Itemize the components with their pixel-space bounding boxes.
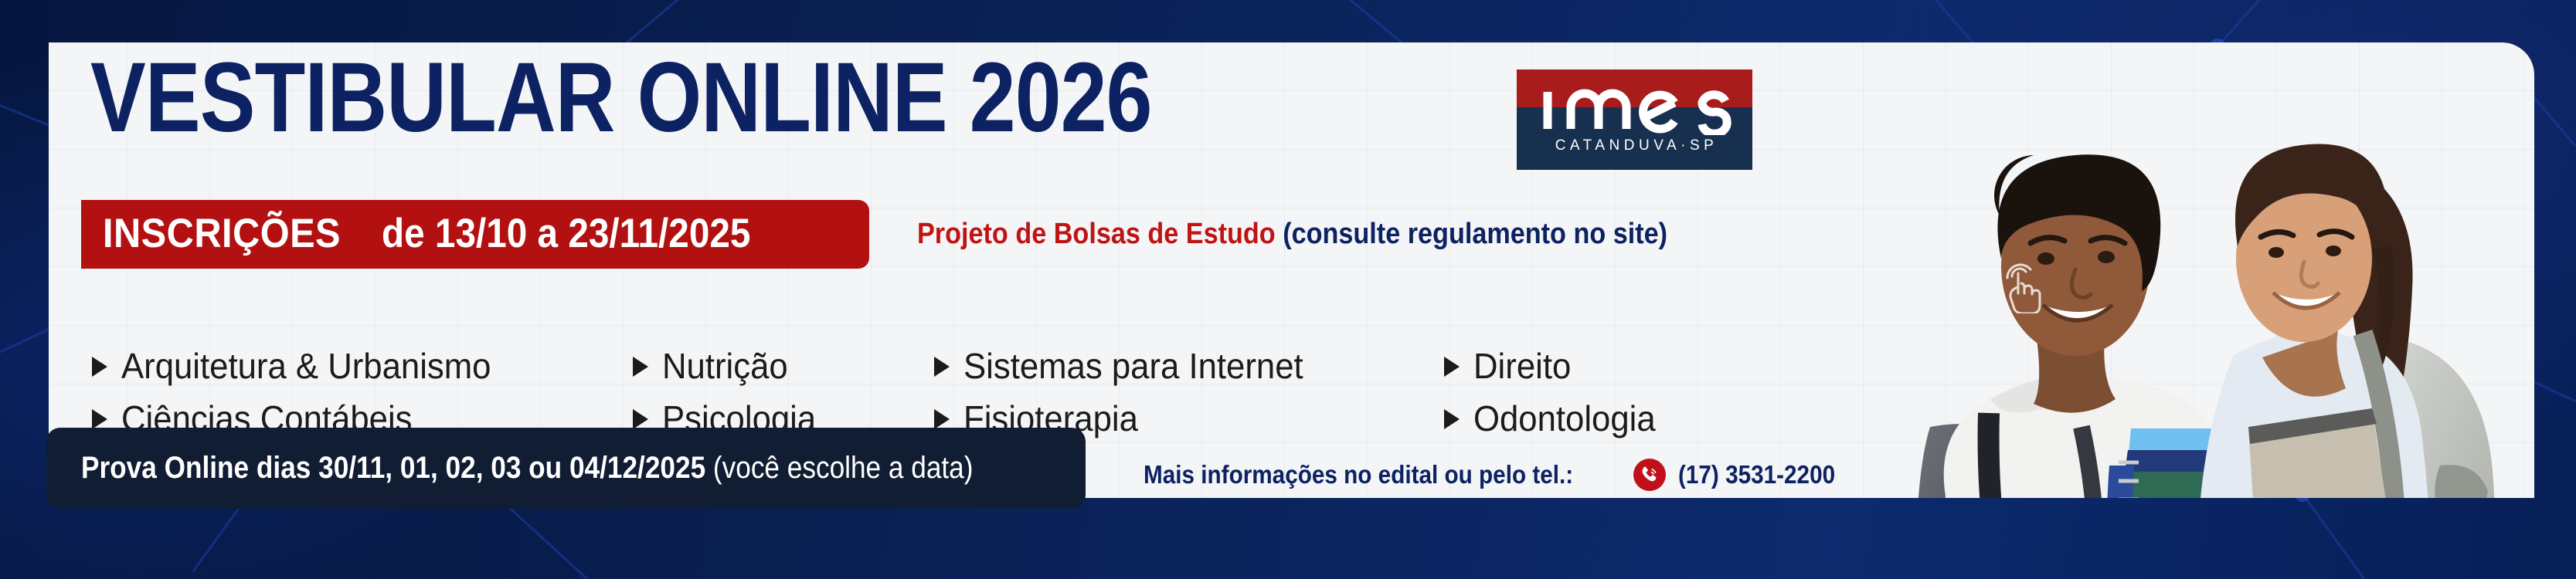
triangle-right-icon	[633, 357, 648, 377]
course-item[interactable]: Direito	[1444, 345, 1776, 387]
exam-dates-note: (você escolhe a data)	[713, 451, 974, 485]
triangle-right-icon	[92, 357, 107, 377]
contact-info: Mais informações no edital ou pelo tel.:…	[1144, 459, 1853, 491]
triangle-right-icon	[1444, 409, 1460, 429]
scholarship-regulation-note: (consulte regulamento no site)	[1283, 218, 1667, 250]
course-label: Nutrição	[662, 345, 788, 387]
contact-label: Mais informações no edital ou pelo tel.:	[1144, 460, 1573, 489]
course-label: Arquitetura & Urbanismo	[121, 345, 491, 387]
exam-dates-text: Prova Online dias 30/11, 01, 02, 03 ou 0…	[81, 451, 973, 486]
inscriptions-row: INSCRIÇÕES de 13/10 a 23/11/2025 Projeto…	[81, 200, 1858, 269]
scholarship-note: Projeto de Bolsas de Estudo (consulte re…	[917, 218, 1667, 251]
tap-hand-icon	[1998, 261, 2046, 313]
scholarship-highlight: Projeto de Bolsas de Estudo	[917, 218, 1276, 250]
contact-phone-number[interactable]: (17) 3531-2200	[1678, 460, 1835, 489]
exam-dates-bold: Prova Online dias 30/11, 01, 02, 03 ou 0…	[81, 451, 705, 485]
triangle-right-icon	[934, 409, 950, 429]
course-item[interactable]: Sistemas para Internet	[934, 345, 1444, 387]
course-column-4: Direito Odontologia	[1444, 345, 1776, 439]
inscriptions-dates: de 13/10 a 23/11/2025	[382, 210, 750, 257]
logo-subtitle: CATANDUVA·SP	[1517, 137, 1752, 154]
course-column-2: Nutrição Psicologia	[633, 345, 934, 439]
triangle-right-icon	[1444, 357, 1460, 377]
page-title: VESTIBULAR ONLINE 2026	[90, 49, 1152, 147]
course-column-3: Sistemas para Internet Fisioterapia	[934, 345, 1444, 439]
course-list: Arquitetura & Urbanismo Ciências Contábe…	[92, 345, 1776, 439]
two-students-photo	[1899, 64, 2517, 498]
imes-logo: CATANDUVA·SP	[1517, 69, 1752, 170]
course-label: Direito	[1473, 345, 1571, 387]
inscriptions-badge: INSCRIÇÕES de 13/10 a 23/11/2025	[81, 200, 869, 269]
course-column-1: Arquitetura & Urbanismo Ciências Contábe…	[92, 345, 633, 439]
triangle-right-icon	[934, 357, 950, 377]
course-item[interactable]: Nutrição	[633, 345, 934, 387]
exam-dates-bar: Prova Online dias 30/11, 01, 02, 03 ou 0…	[46, 428, 1086, 509]
banner-root: VESTIBULAR ONLINE 2026 INSCRIÇÕES de 13/…	[0, 0, 2576, 579]
course-item[interactable]: Arquitetura & Urbanismo	[92, 345, 633, 387]
triangle-right-icon	[633, 409, 648, 429]
phone-call-icon	[1633, 459, 1666, 491]
course-label: Odontologia	[1473, 398, 1656, 439]
course-label: Sistemas para Internet	[963, 345, 1303, 387]
logo-wordmark-icon	[1517, 74, 1752, 139]
course-item[interactable]: Odontologia	[1444, 398, 1776, 439]
inscriptions-label: INSCRIÇÕES	[103, 210, 341, 257]
triangle-right-icon	[92, 409, 107, 429]
